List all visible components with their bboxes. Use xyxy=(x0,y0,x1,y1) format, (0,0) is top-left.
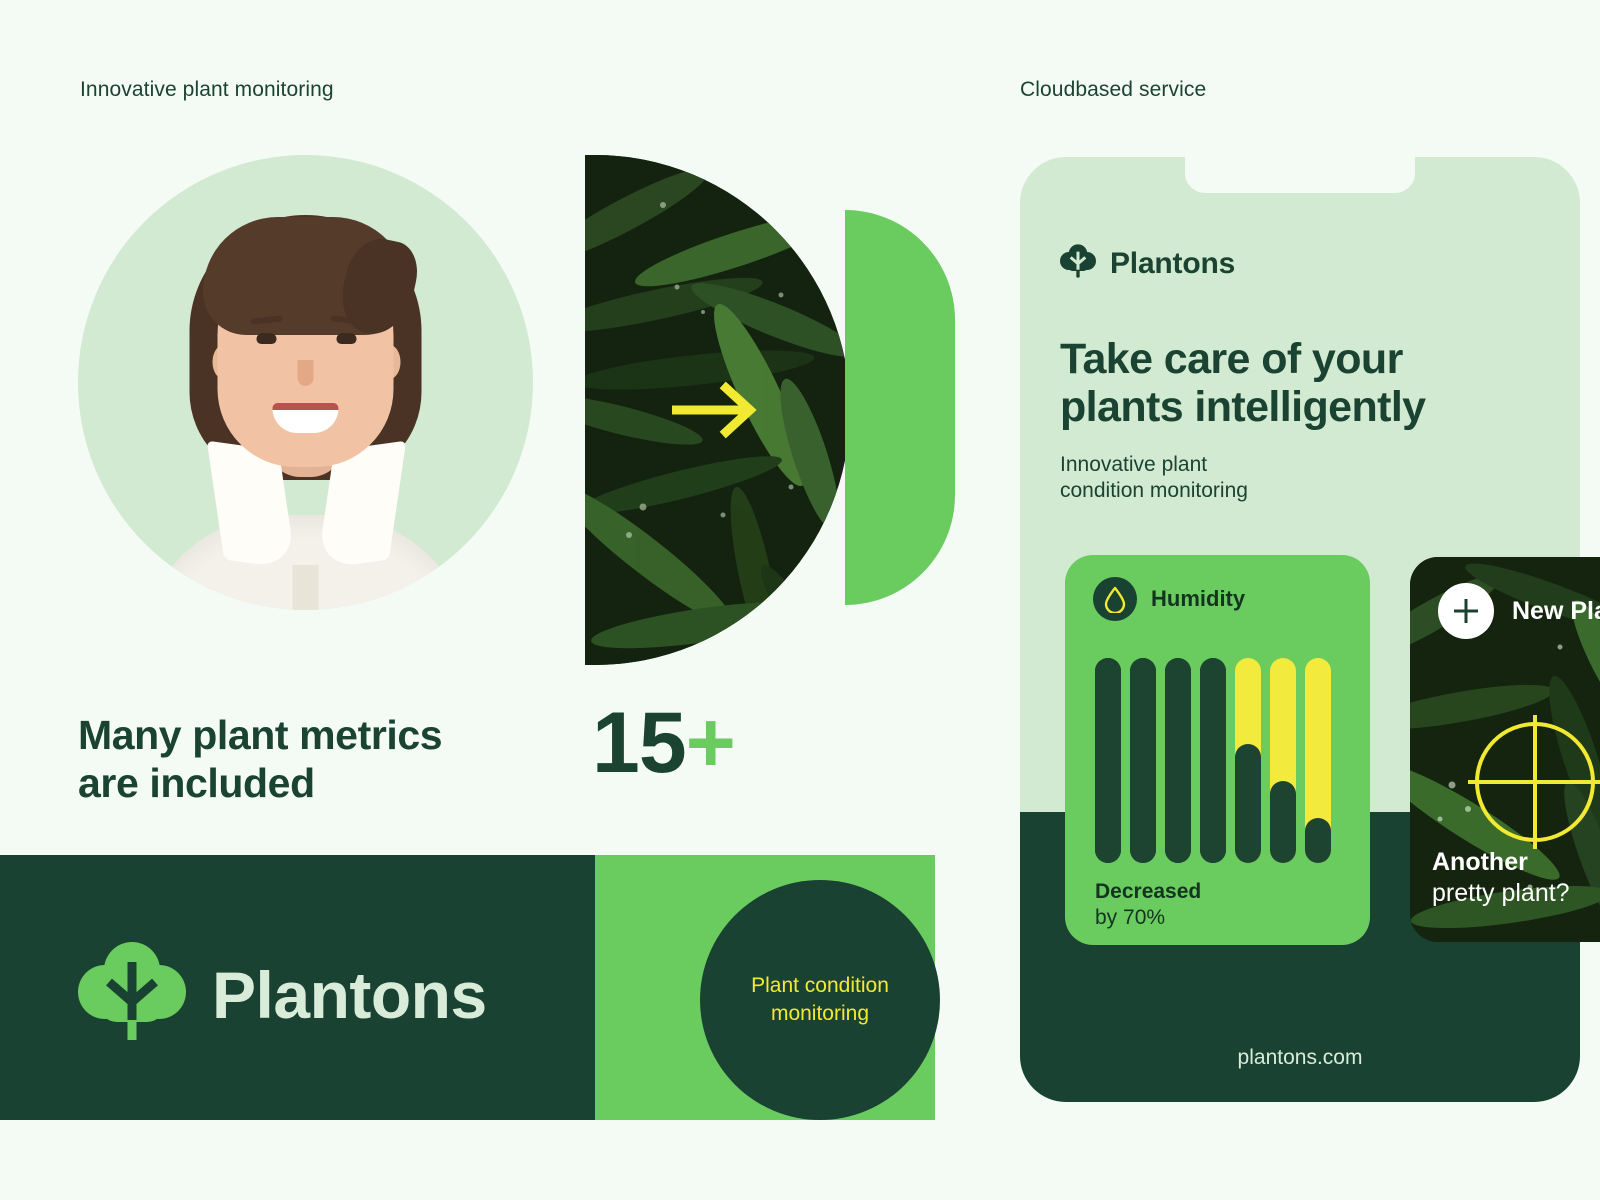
phone-website-url[interactable]: plantons.com xyxy=(1020,1046,1580,1070)
badge-line-2: monitoring xyxy=(751,1000,889,1028)
left-heading: Many plant metrics are included xyxy=(78,712,548,807)
phone-brand-logo: Plantons xyxy=(1060,243,1235,284)
humidity-bar-fill xyxy=(1130,658,1156,863)
plus-icon[interactable] xyxy=(1438,583,1494,639)
humidity-bar-fill xyxy=(1270,781,1296,863)
humidity-bar-fill xyxy=(1095,658,1121,863)
humidity-bar xyxy=(1095,658,1121,863)
metrics-count: 15+ xyxy=(592,700,735,786)
humidity-card-title: Humidity xyxy=(1151,586,1245,612)
badge-line-1: Plant condition xyxy=(751,972,889,1000)
half-leaf-shape xyxy=(845,210,955,605)
left-heading-line-1: Many plant metrics xyxy=(78,712,548,760)
portrait-avatar xyxy=(78,155,533,610)
tree-logo-icon xyxy=(78,940,186,1049)
brand-wordmark: Plantons xyxy=(78,940,487,1049)
humidity-bar xyxy=(1305,658,1331,863)
humidity-card-header: Humidity xyxy=(1093,577,1245,621)
new-plant-card-title: New Plant xyxy=(1512,597,1600,626)
phone-sub-line-2: condition monitoring xyxy=(1060,478,1380,504)
metrics-count-plus: + xyxy=(686,695,735,791)
plant-condition-badge-text: Plant condition monitoring xyxy=(751,972,889,1028)
new-plant-card-footer: Another pretty plant? xyxy=(1432,847,1570,908)
phone-notch xyxy=(1185,157,1415,193)
new-plant-card-header[interactable]: New Plant xyxy=(1438,583,1600,639)
humidity-bar xyxy=(1165,658,1191,863)
phone-brand-name: Plantons xyxy=(1110,247,1235,281)
new-plant-footer-rest: pretty plant? xyxy=(1432,879,1570,907)
plant-photo-d-shape xyxy=(585,155,850,665)
humidity-bar xyxy=(1200,658,1226,863)
humidity-bar xyxy=(1270,658,1296,863)
humidity-bar-fill xyxy=(1165,658,1191,863)
tree-logo-icon xyxy=(1060,243,1096,284)
metrics-count-number: 15 xyxy=(592,695,686,791)
phone-headline: Take care of your plants intelligently xyxy=(1060,335,1560,431)
phone-headline-line-1: Take care of your xyxy=(1060,335,1560,383)
humidity-bar xyxy=(1235,658,1261,863)
plant-condition-badge: Plant condition monitoring xyxy=(700,880,940,1120)
phone-headline-line-2: plants intelligently xyxy=(1060,383,1560,431)
humidity-bar-chart xyxy=(1095,658,1340,863)
eyebrow-right-label: Cloudbased service xyxy=(1020,78,1206,102)
humidity-card-footer: Decreased by 70% xyxy=(1095,879,1201,932)
humidity-card[interactable]: Humidity Decreased by 70% xyxy=(1065,555,1370,945)
left-heading-line-2: are included xyxy=(78,760,548,808)
brand-wordmark-text: Plantons xyxy=(212,957,487,1033)
humidity-footer-rest: by 70% xyxy=(1095,906,1165,929)
new-plant-card[interactable]: New Plant Another pretty plant? xyxy=(1410,557,1600,942)
crosshair-icon xyxy=(1460,707,1600,857)
humidity-bar-fill xyxy=(1305,818,1331,863)
phone-sub-line-1: Innovative plant xyxy=(1060,452,1380,478)
phone-subheadline: Innovative plant condition monitoring xyxy=(1060,452,1380,505)
humidity-footer-strong: Decreased xyxy=(1095,879,1201,905)
humidity-bar-fill xyxy=(1200,658,1226,863)
arrow-right-icon xyxy=(670,380,765,440)
humidity-bar-fill xyxy=(1235,744,1261,863)
portrait-illustration xyxy=(78,155,533,610)
water-drop-icon xyxy=(1093,577,1137,621)
eyebrow-left-label: Innovative plant monitoring xyxy=(80,78,334,102)
humidity-bar xyxy=(1130,658,1156,863)
new-plant-footer-strong: Another xyxy=(1432,847,1570,878)
poster-canvas: Innovative plant monitoring Cloudbased s… xyxy=(0,0,1600,1200)
